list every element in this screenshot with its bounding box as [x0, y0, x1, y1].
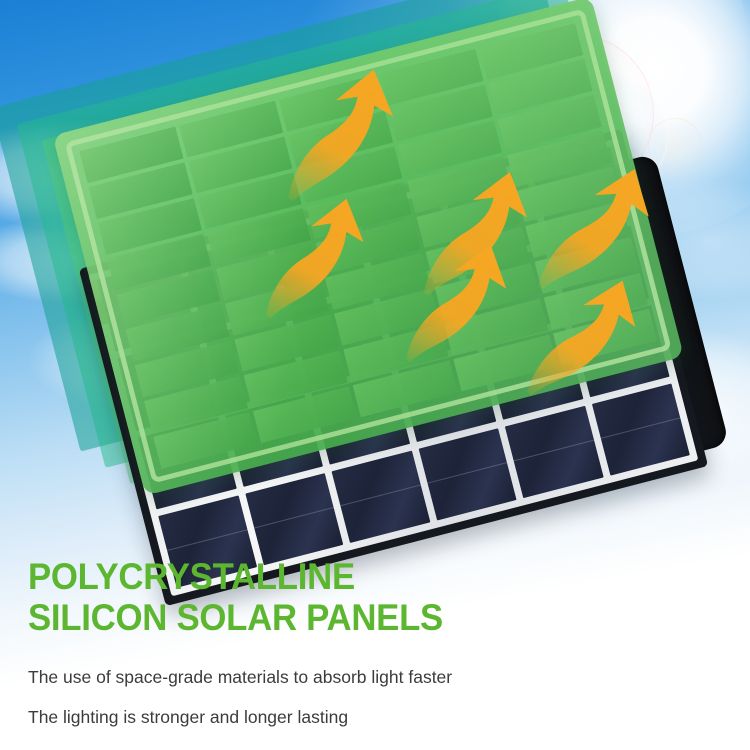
promo-banner: POLYCRYSTALLINE SILICON SOLAR PANELS The… — [0, 0, 750, 750]
page-title-line-2: SILICON SOLAR PANELS — [28, 597, 686, 638]
solar-cell — [331, 450, 429, 543]
solar-cell — [418, 428, 516, 521]
subtitle-line-2: The lighting is stronger and longer last… — [28, 707, 728, 728]
solar-cell — [505, 406, 603, 499]
text-block: POLYCRYSTALLINE SILICON SOLAR PANELS The… — [28, 556, 728, 728]
solar-cell — [245, 473, 343, 566]
solar-cell — [591, 383, 689, 476]
page-title-line-1: POLYCRYSTALLINE — [28, 556, 686, 597]
subtitle-line-1: The use of space-grade materials to abso… — [28, 667, 728, 688]
